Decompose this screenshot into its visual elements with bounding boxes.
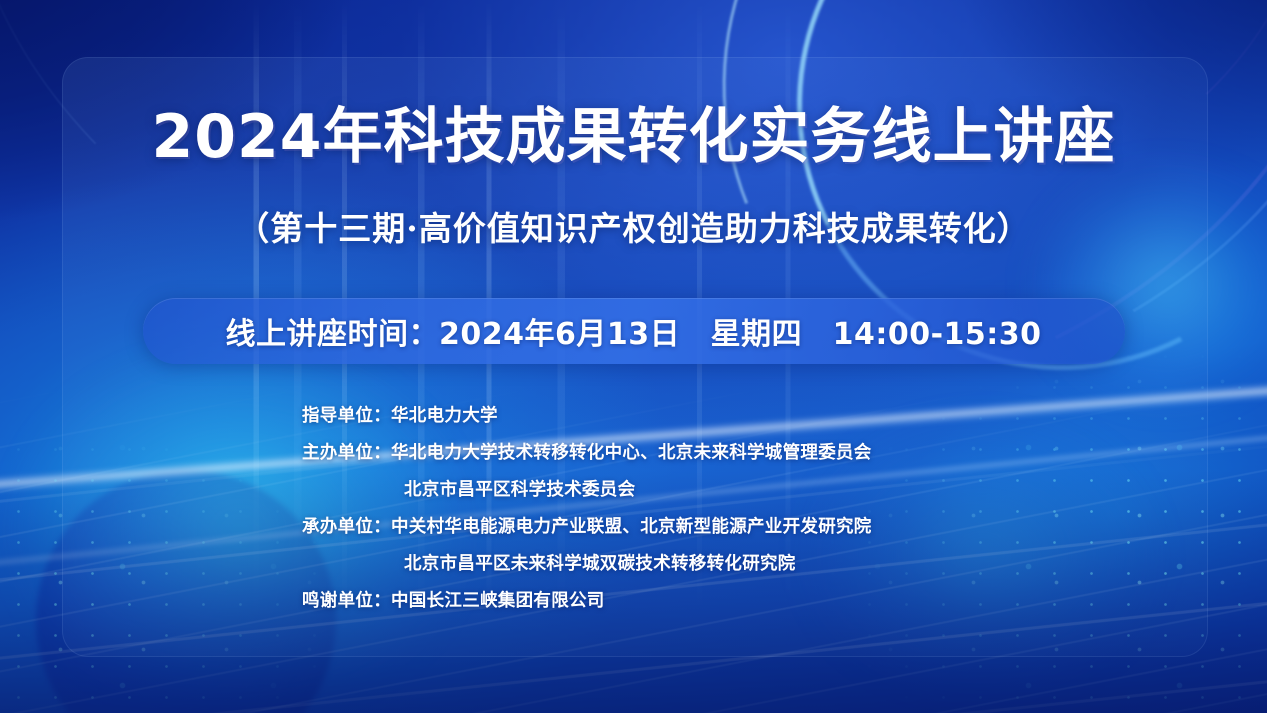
organization-line-organizer: 承办单位：中关村华电能源电力产业联盟、北京新型能源产业开发研究院 — [302, 509, 872, 546]
poster-subtitle: （第十三期·高价值知识产权创造助力科技成果转化） — [0, 208, 1267, 251]
organizations-block: 指导单位：华北电力大学 主办单位：华北电力大学技术转移转化中心、北京未来科学城管… — [302, 398, 872, 620]
organization-line-organizer-cont: 北京市昌平区未来科学城双碳技术转移转化研究院 — [302, 546, 872, 583]
organization-line-guidance: 指导单位：华北电力大学 — [302, 398, 872, 435]
schedule-banner-pill: 线上讲座时间：2024年6月13日 星期四 14:00-15:30 — [143, 298, 1125, 364]
schedule-banner-wrap: 线上讲座时间：2024年6月13日 星期四 14:00-15:30 — [0, 298, 1267, 364]
poster-content: 2024年科技成果转化实务线上讲座 （第十三期·高价值知识产权创造助力科技成果转… — [0, 0, 1267, 713]
poster-canvas: 2024年科技成果转化实务线上讲座 （第十三期·高价值知识产权创造助力科技成果转… — [0, 0, 1267, 713]
poster-title: 2024年科技成果转化实务线上讲座 — [0, 104, 1267, 171]
organization-line-host: 主办单位：华北电力大学技术转移转化中心、北京未来科学城管理委员会 — [302, 435, 872, 472]
organization-line-host-cont: 北京市昌平区科学技术委员会 — [302, 472, 872, 509]
organization-line-acknowledgement: 鸣谢单位：中国长江三峡集团有限公司 — [302, 583, 872, 620]
schedule-banner-text: 线上讲座时间：2024年6月13日 星期四 14:00-15:30 — [225, 309, 1041, 353]
